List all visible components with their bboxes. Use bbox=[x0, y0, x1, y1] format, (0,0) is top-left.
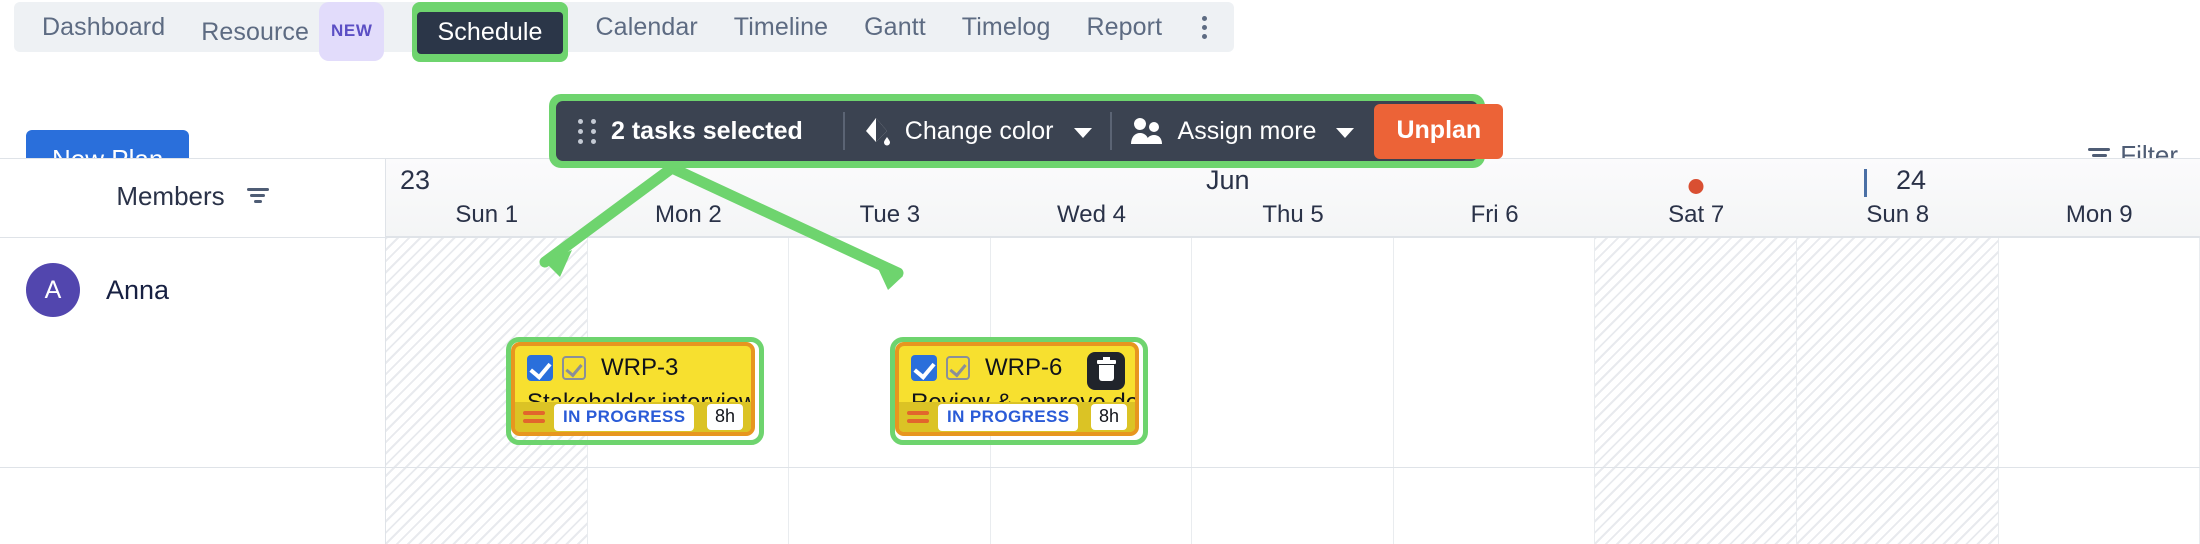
unplan-button[interactable]: Unplan bbox=[1374, 104, 1503, 159]
tab-label: Report bbox=[1087, 13, 1163, 41]
week-number: 23 bbox=[400, 165, 430, 196]
day-header-cell[interactable]: Tue 3 bbox=[789, 201, 991, 237]
estimate-badge: 8h bbox=[1091, 404, 1127, 430]
day-header-cell[interactable]: Sun 8 bbox=[1797, 201, 1999, 237]
active-tab-highlight: Schedule bbox=[412, 2, 567, 62]
schedule-page: Dashboard ResourceNEW Schedule Calendar … bbox=[0, 0, 2200, 544]
tab-label: Dashboard bbox=[42, 13, 165, 41]
day-label: Sat 7 bbox=[1668, 201, 1724, 228]
day-label: Mon 2 bbox=[655, 201, 722, 228]
day-header-cell[interactable]: Wed 4 bbox=[991, 201, 1193, 237]
task-card[interactable]: WRP-3 Stakeholder interviews IN PROGRESS… bbox=[511, 342, 755, 436]
divider bbox=[0, 237, 386, 238]
members-panel: Members A Anna bbox=[0, 159, 386, 544]
day-header-row: Sun 1 Mon 2 Tue 3 Wed 4 Thu 5 Fri 6 Sat … bbox=[386, 201, 2200, 237]
assign-more-label: Assign more bbox=[1178, 117, 1317, 146]
task-card-header: WRP-3 bbox=[527, 354, 739, 382]
day-cell[interactable] bbox=[1797, 237, 1999, 544]
tab-timeline[interactable]: Timeline bbox=[716, 2, 846, 52]
month-label: Jun bbox=[1206, 165, 1250, 196]
task-card-footer: IN PROGRESS 8h bbox=[515, 402, 751, 432]
assign-more-button[interactable]: Assign more bbox=[1130, 117, 1355, 146]
tab-label: Gantt bbox=[864, 13, 926, 41]
task-type-icon bbox=[562, 356, 586, 380]
day-label: Sun 8 bbox=[1866, 201, 1929, 228]
chevron-down-icon bbox=[1074, 128, 1092, 138]
view-tab-bar: Dashboard ResourceNEW Schedule Calendar … bbox=[14, 2, 1234, 52]
day-cell[interactable] bbox=[1595, 237, 1797, 544]
day-header-cell[interactable]: Sun 1 bbox=[386, 201, 588, 237]
status-badge: IN PROGRESS bbox=[554, 404, 694, 431]
bulk-action-toolbar-highlight: 2 tasks selected Change color bbox=[549, 94, 1485, 168]
day-label: Mon 9 bbox=[2066, 201, 2133, 228]
member-row[interactable]: A Anna bbox=[26, 263, 169, 317]
divider bbox=[0, 467, 2200, 468]
day-cell[interactable] bbox=[1394, 237, 1596, 544]
tab-report[interactable]: Report bbox=[1069, 2, 1181, 52]
day-header-cell[interactable]: Mon 2 bbox=[588, 201, 790, 237]
day-label: Tue 3 bbox=[860, 201, 920, 228]
priority-medium-icon bbox=[907, 410, 929, 424]
day-header-cell[interactable]: Mon 9 bbox=[1999, 201, 2200, 237]
task-type-icon bbox=[946, 356, 970, 380]
tab-label: Schedule bbox=[417, 12, 562, 54]
week-divider bbox=[1864, 169, 1867, 197]
divider bbox=[843, 112, 845, 150]
member-name: Anna bbox=[106, 275, 169, 306]
people-icon bbox=[1130, 117, 1164, 145]
day-header-cell[interactable]: Fri 6 bbox=[1394, 201, 1596, 237]
tab-label: Calendar bbox=[596, 13, 698, 41]
task-key[interactable]: WRP-6 bbox=[985, 354, 1062, 382]
task-select-checkbox[interactable] bbox=[911, 355, 937, 381]
funnel-icon[interactable] bbox=[247, 187, 269, 205]
day-label: Sun 1 bbox=[455, 201, 518, 228]
day-label: Fri 6 bbox=[1471, 201, 1519, 228]
members-header: Members bbox=[0, 159, 385, 215]
members-label: Members bbox=[116, 181, 224, 212]
status-badge: IN PROGRESS bbox=[938, 404, 1078, 431]
schedule-grid: Members A Anna 23 Jun 24 Sun 1 Mon 2 Tue… bbox=[0, 158, 2200, 544]
tab-label: Resource bbox=[201, 18, 309, 46]
day-header-cell[interactable]: Sat 7 bbox=[1595, 201, 1797, 237]
trash-glyph bbox=[1097, 360, 1116, 382]
tab-label: Timelog bbox=[962, 13, 1051, 41]
task-card-footer: IN PROGRESS 8h bbox=[899, 402, 1135, 432]
timeline-header: 23 Jun 24 Sun 1 Mon 2 Tue 3 Wed 4 Thu 5 … bbox=[386, 159, 2200, 237]
close-icon[interactable] bbox=[1519, 108, 1565, 154]
tab-gantt[interactable]: Gantt bbox=[846, 2, 944, 52]
drag-handle-icon[interactable] bbox=[578, 116, 597, 146]
task-card-header: WRP-6 bbox=[911, 354, 1123, 382]
tab-timelog[interactable]: Timelog bbox=[944, 2, 1069, 52]
new-badge: NEW bbox=[319, 2, 384, 61]
tab-dashboard[interactable]: Dashboard bbox=[24, 2, 183, 52]
selection-count-label: 2 tasks selected bbox=[611, 117, 803, 146]
avatar: A bbox=[26, 263, 80, 317]
day-header-cell[interactable]: Thu 5 bbox=[1192, 201, 1394, 237]
change-color-button[interactable]: Change color bbox=[863, 116, 1092, 146]
day-label: Wed 4 bbox=[1057, 201, 1126, 228]
paint-bucket-icon bbox=[863, 116, 891, 146]
divider bbox=[386, 237, 2200, 238]
day-label: Thu 5 bbox=[1262, 201, 1323, 228]
chevron-down-icon bbox=[1336, 128, 1354, 138]
today-dot-icon bbox=[1689, 179, 1704, 194]
task-card[interactable]: WRP-6 Review & approve design IN PROGRES… bbox=[895, 342, 1139, 436]
trash-icon[interactable] bbox=[1087, 352, 1125, 390]
task-key[interactable]: WRP-3 bbox=[601, 354, 678, 382]
tab-schedule[interactable]: Schedule bbox=[412, 2, 567, 52]
more-vertical-icon[interactable] bbox=[1184, 2, 1224, 52]
tab-label: Timeline bbox=[734, 13, 828, 41]
day-cell[interactable] bbox=[1999, 237, 2200, 544]
tab-resource[interactable]: ResourceNEW bbox=[183, 2, 402, 52]
priority-medium-icon bbox=[523, 410, 545, 424]
tab-calendar[interactable]: Calendar bbox=[578, 2, 716, 52]
bulk-action-toolbar: 2 tasks selected Change color bbox=[556, 101, 1478, 161]
divider bbox=[1110, 112, 1112, 150]
week-number: 24 bbox=[1896, 165, 1926, 196]
task-select-checkbox[interactable] bbox=[527, 355, 553, 381]
day-cell[interactable] bbox=[1192, 237, 1394, 544]
estimate-badge: 8h bbox=[707, 404, 743, 430]
change-color-label: Change color bbox=[905, 117, 1054, 146]
